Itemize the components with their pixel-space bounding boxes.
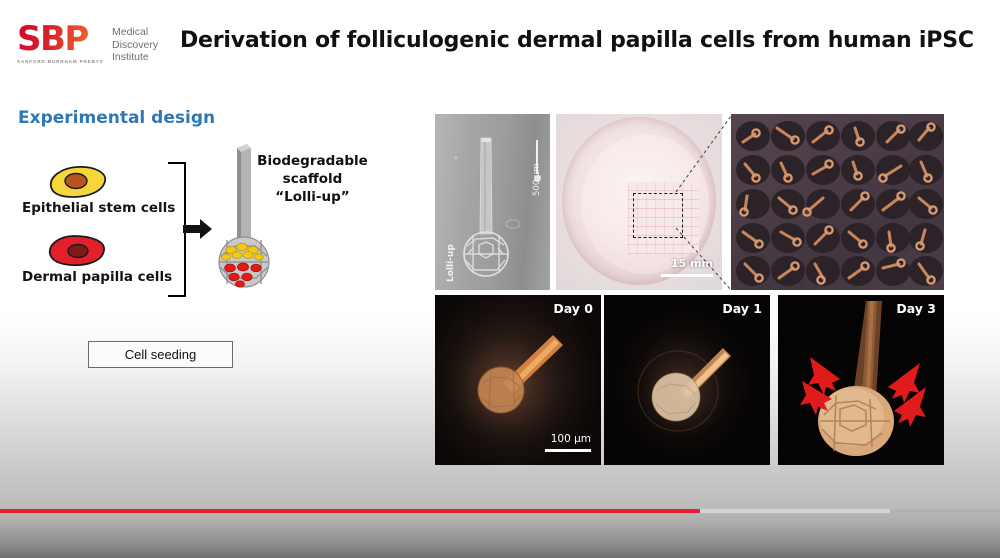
dermal-papilla-cell-label: Dermal papilla cells — [22, 269, 172, 285]
scaffold-label-line-1: Biodegradable — [255, 152, 370, 170]
slide-title: Derivation of folliculogenic dermal papi… — [180, 28, 990, 53]
day1-corner-label: Day 1 — [722, 301, 762, 316]
epithelial-cell-icon — [47, 165, 109, 199]
dish-scale-bar — [661, 274, 713, 278]
logo-tagline: Medical Discovery Institute — [112, 26, 158, 64]
slide-canvas[interactable]: SBP SANFORD BURNHAM PREBYS Medical Disco… — [0, 0, 1000, 505]
panel-sem-lolli-up: Lolli-up 500 µm — [435, 114, 550, 290]
sem-scale-label: 500 µm — [532, 163, 542, 196]
panel-timelapse-day-3: Day 3 — [778, 295, 944, 465]
arrow-right-icon — [183, 218, 213, 245]
panel-timelapse-day-0: Day 0 100 µm — [435, 295, 601, 465]
scaffold-label-line-3: “Lolli-up” — [255, 188, 370, 206]
panel-scaffold-array — [731, 114, 944, 290]
video-player-frame: SBP SANFORD BURNHAM PREBYS Medical Disco… — [0, 0, 1000, 558]
day0-scale-bar — [545, 449, 591, 452]
logo-wordmark: SBP — [17, 22, 112, 56]
logo-tagline-line-1: Medical — [112, 26, 158, 39]
dish-inner-well — [581, 134, 709, 274]
scaffold-label: Biodegradable scaffold “Lolli-up” — [255, 152, 370, 206]
array-background — [731, 114, 944, 290]
section-heading: Experimental design — [18, 108, 215, 128]
logo-tagline-line-2: Discovery — [112, 39, 158, 52]
cell-seeding-label: Cell seeding — [125, 347, 197, 362]
panel-petri-dish: 15 mm — [556, 114, 722, 290]
panel-timelapse-day-1: Day 1 — [604, 295, 770, 465]
cell-seeding-box: Cell seeding — [88, 341, 233, 368]
epithelial-cell-label: Epithelial stem cells — [22, 200, 175, 216]
sbp-logo: SBP SANFORD BURNHAM PREBYS — [17, 22, 112, 64]
logo-footer-text: SANFORD BURNHAM PREBYS — [17, 59, 112, 64]
dish-inset-region — [633, 193, 683, 238]
progress-scrubber[interactable] — [0, 509, 1000, 513]
logo-tagline-line-3: Institute — [112, 51, 158, 64]
progress-played — [0, 509, 700, 513]
dermal-papilla-cell-icon — [47, 234, 109, 268]
scaffold-label-line-2: scaffold — [255, 170, 370, 188]
day0-corner-label: Day 0 — [553, 301, 593, 316]
sem-corner-label: Lolli-up — [446, 244, 456, 282]
dish-scale-label: 15 mm — [671, 257, 713, 270]
day0-scale-label: 100 µm — [551, 433, 591, 445]
video-control-bar[interactable] — [0, 505, 1000, 558]
day3-corner-label: Day 3 — [896, 301, 936, 316]
